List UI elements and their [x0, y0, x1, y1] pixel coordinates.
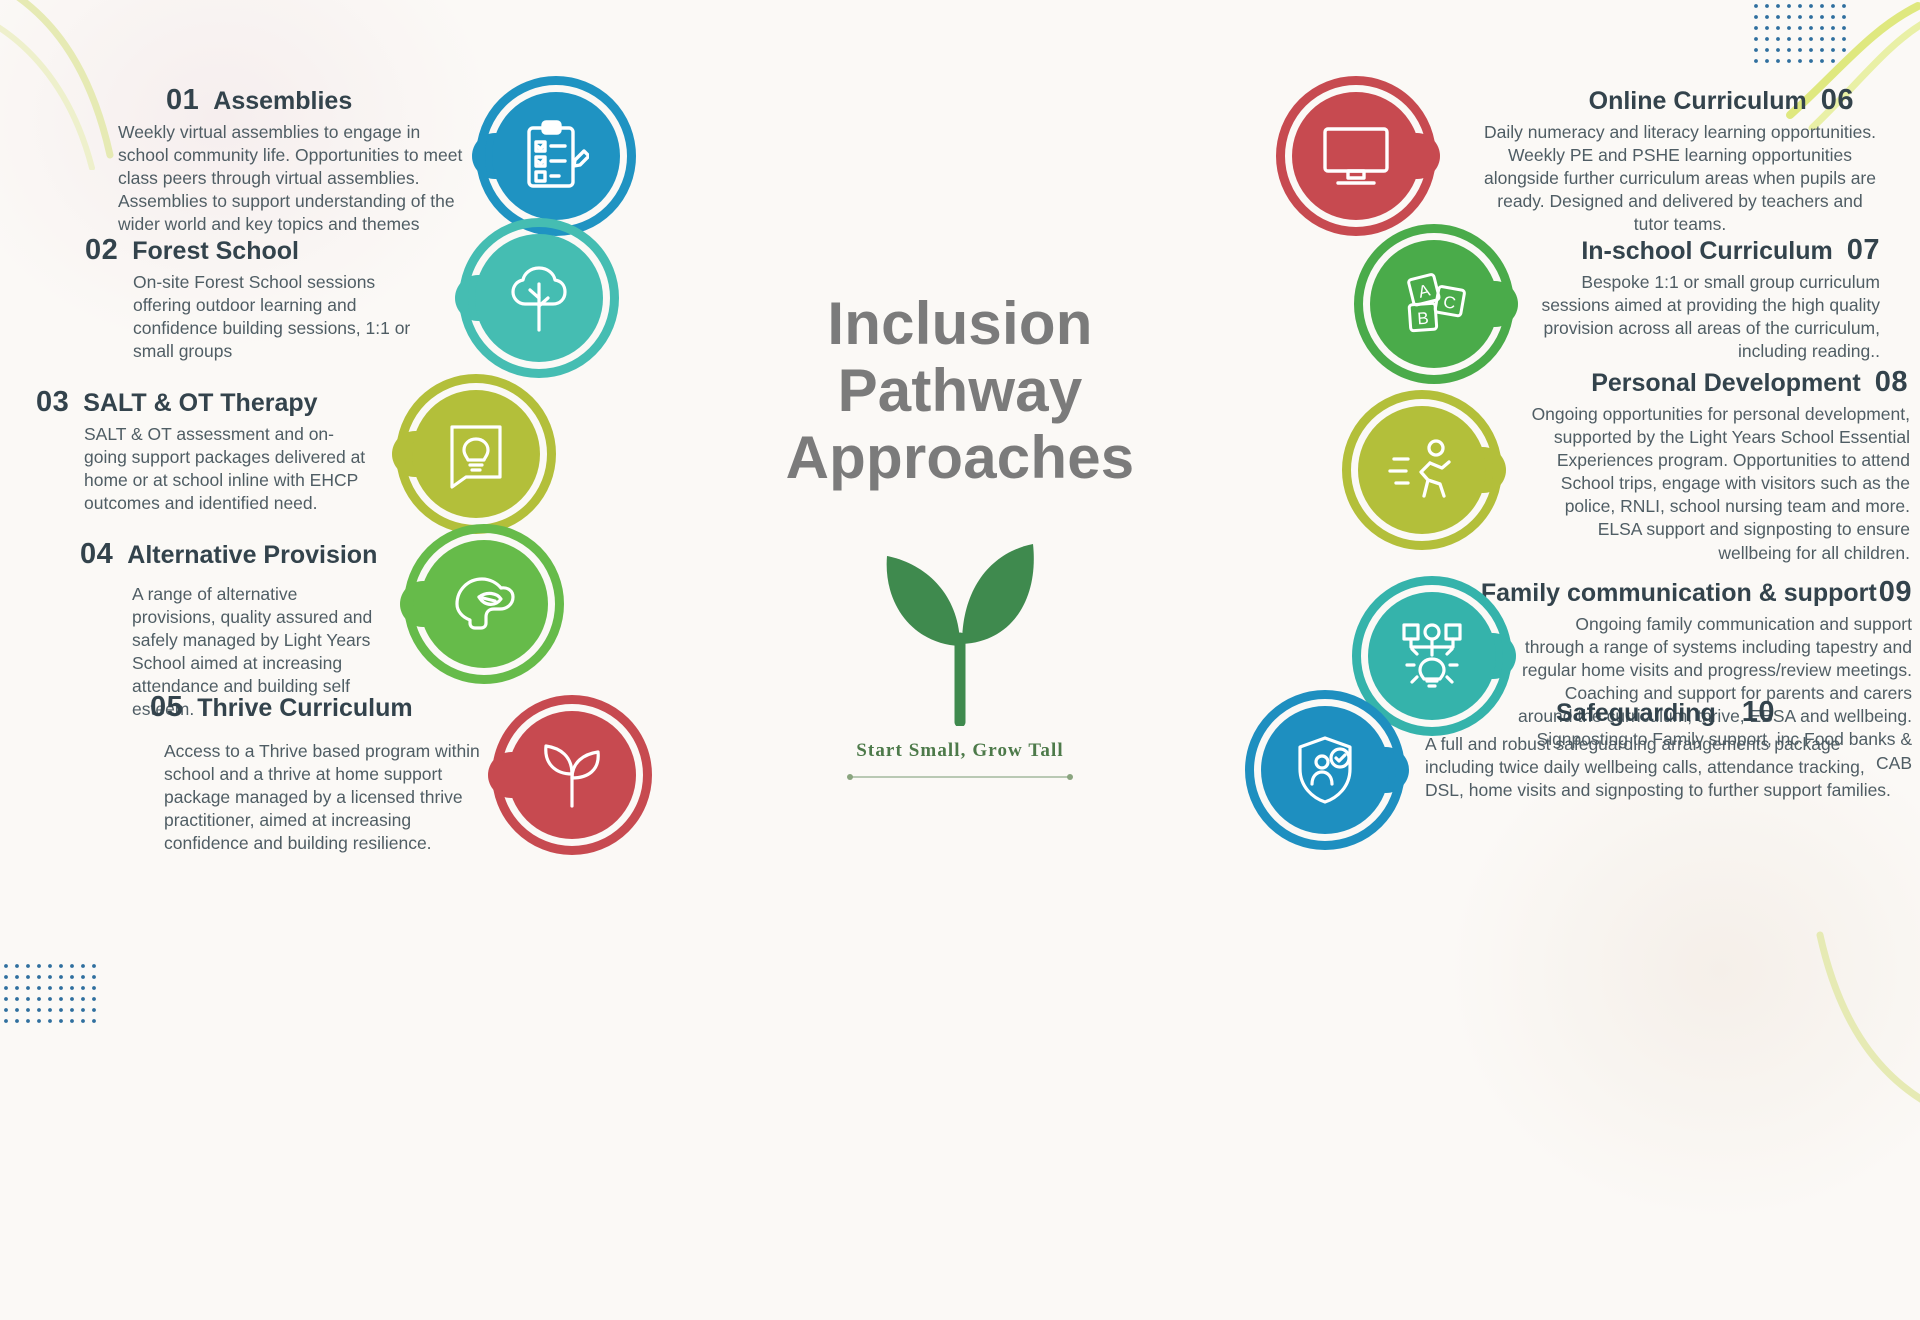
center-block: Inclusion Pathway Approaches Start Small…	[745, 0, 1175, 778]
item-06-badge[interactable]	[1276, 76, 1436, 236]
shield-person-check-icon	[1261, 706, 1389, 834]
item-01-badge[interactable]	[476, 76, 636, 236]
clipboard-checklist-icon	[492, 92, 620, 220]
item-04-number: 04	[80, 538, 113, 571]
infographic-board: Inclusion Pathway Approaches Start Small…	[0, 0, 1920, 1080]
monitor-icon	[1292, 92, 1420, 220]
item-02[interactable]: 02 Forest School On-site Forest School s…	[85, 228, 619, 378]
item-06[interactable]: Online Curriculum 06 Daily numeracy and …	[1276, 78, 1880, 236]
abc-blocks-icon: A C B	[1370, 240, 1498, 368]
item-03-body: SALT & OT assessment and on-going suppor…	[36, 423, 366, 515]
tree-icon	[475, 234, 603, 362]
item-08-title: Personal Development	[1591, 369, 1861, 398]
item-08[interactable]: Personal Development 08 Ongoing opportun…	[1342, 360, 1910, 565]
item-06-title: Online Curriculum	[1589, 87, 1807, 116]
item-10-title: Safeguarding	[1556, 699, 1716, 728]
tagline-rule	[850, 776, 1070, 778]
title-line-2: Pathway	[745, 357, 1175, 424]
item-05-number: 05	[150, 691, 183, 724]
item-07-number: 07	[1847, 234, 1880, 267]
item-02-badge[interactable]	[459, 218, 619, 378]
item-03-badge[interactable]	[396, 374, 556, 534]
tagline: Start Small, Grow Tall	[745, 740, 1175, 762]
svg-text:A: A	[1416, 280, 1432, 301]
svg-text:C: C	[1442, 292, 1457, 313]
item-05[interactable]: 05 Thrive Curriculum Access to a Thrive …	[150, 685, 652, 855]
title-line-1: Inclusion	[745, 290, 1175, 357]
item-01[interactable]: 01 Assemblies Weekly virtual assemblies …	[118, 78, 636, 236]
item-01-title: Assemblies	[213, 87, 352, 116]
lightbulb-board-icon	[412, 390, 540, 518]
item-03[interactable]: 03 SALT & OT Therapy SALT & OT assessmen…	[36, 380, 556, 534]
item-02-title: Forest School	[132, 237, 299, 266]
item-05-title: Thrive Curriculum	[197, 694, 412, 723]
page-title: Inclusion Pathway Approaches	[745, 290, 1175, 492]
item-08-badge[interactable]	[1342, 390, 1502, 550]
item-02-number: 02	[85, 234, 118, 267]
item-02-body: On-site Forest School sessions offering …	[85, 271, 421, 363]
running-person-icon	[1358, 406, 1486, 534]
item-08-body: Ongoing opportunities for personal devel…	[1520, 403, 1910, 565]
item-01-body: Weekly virtual assemblies to engage in s…	[118, 121, 470, 236]
sprout-icon	[745, 526, 1175, 726]
item-10-body: A full and robust safeguarding arrangeme…	[1425, 733, 1895, 802]
item-08-number: 08	[1875, 366, 1908, 399]
item-06-body: Daily numeracy and literacy learning opp…	[1480, 121, 1880, 236]
item-03-title: SALT & OT Therapy	[83, 389, 317, 418]
svg-text:B: B	[1417, 309, 1430, 329]
item-05-badge[interactable]	[492, 695, 652, 855]
item-10-badge[interactable]	[1245, 690, 1405, 850]
item-07-body: Bespoke 1:1 or small group curriculum se…	[1528, 271, 1880, 363]
head-leaf-icon	[420, 540, 548, 668]
title-line-3: Approaches	[745, 424, 1175, 491]
item-01-number: 01	[166, 84, 199, 117]
item-09-title: Family communication & support	[1481, 579, 1877, 608]
item-04-badge[interactable]	[404, 524, 564, 684]
item-05-body: Access to a Thrive based program within …	[150, 740, 480, 855]
item-04-title: Alternative Provision	[127, 541, 377, 570]
item-10[interactable]: Safeguarding 10 A full and robust safegu…	[1245, 690, 1895, 850]
item-10-number: 10	[1742, 696, 1775, 729]
item-07-title: In-school Curriculum	[1581, 237, 1832, 266]
item-09-number: 09	[1879, 576, 1912, 609]
item-03-number: 03	[36, 386, 69, 419]
item-06-number: 06	[1821, 84, 1854, 117]
leaf-sprout-icon	[508, 711, 636, 839]
